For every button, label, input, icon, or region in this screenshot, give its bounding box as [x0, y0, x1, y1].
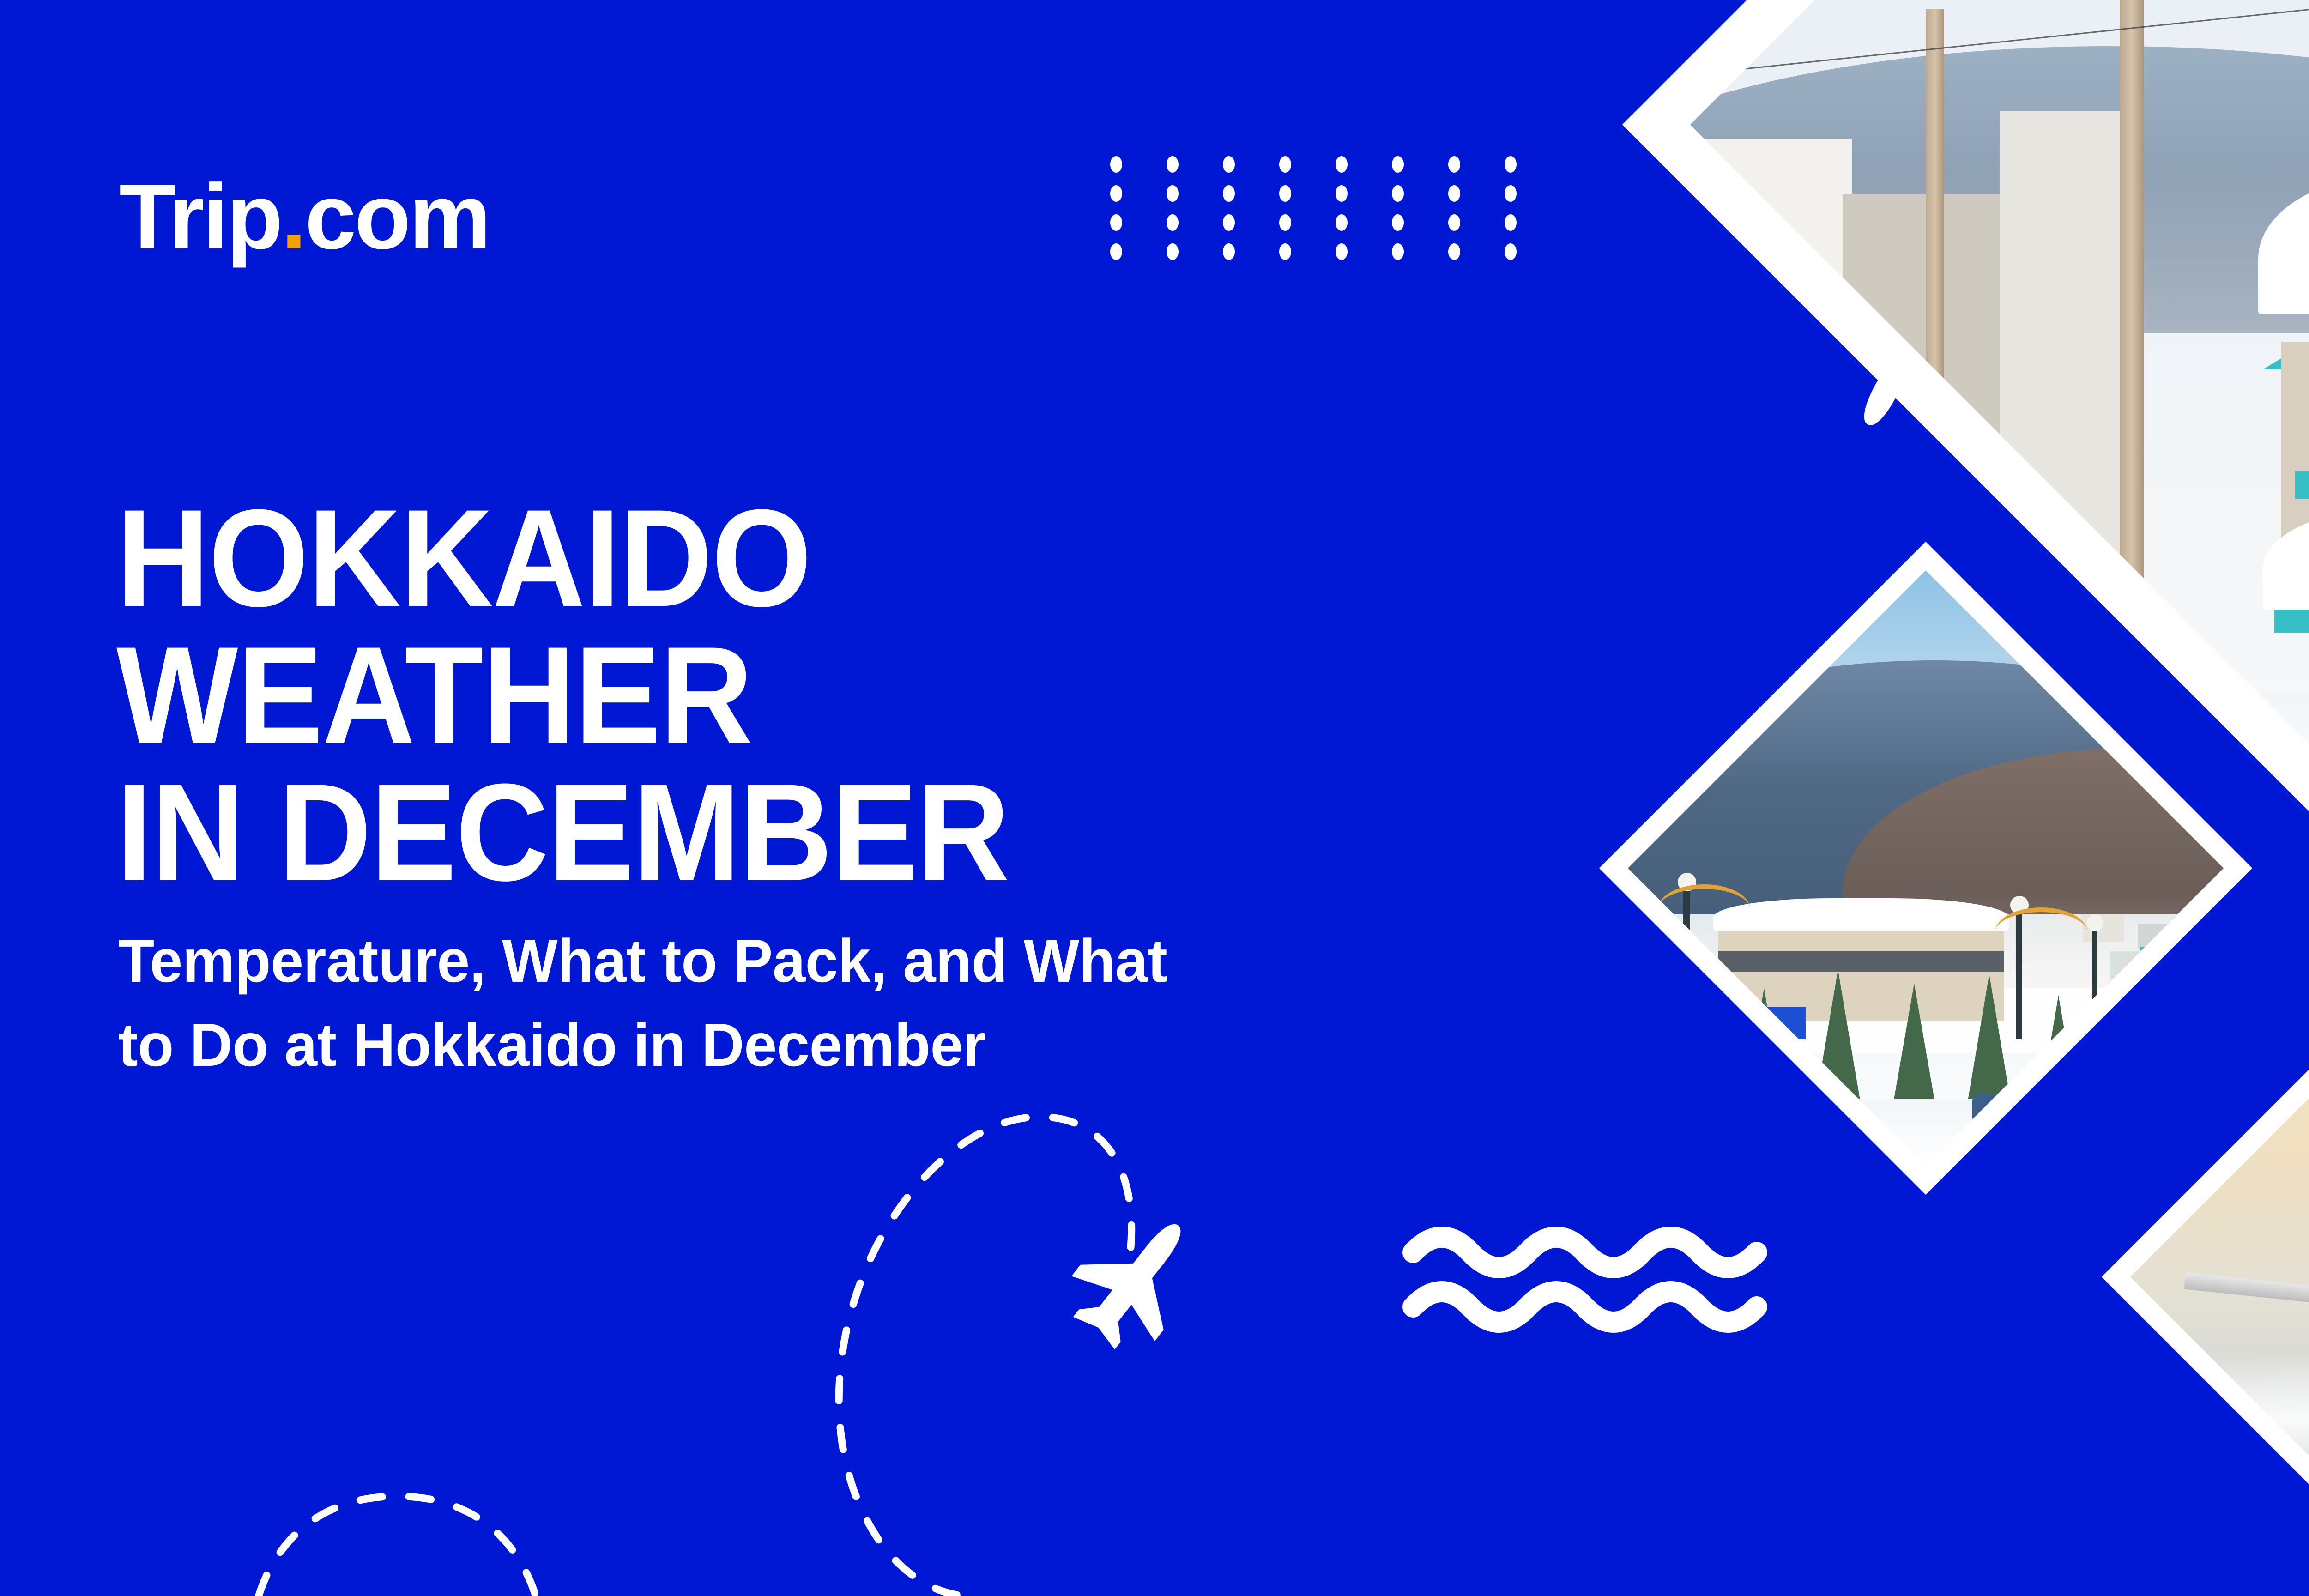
flight-path-bottom-icon	[839, 1117, 1132, 1596]
wave-decoration	[1413, 1237, 1757, 1322]
photo-card-airplane	[2102, 947, 2309, 1596]
airplane-icon-bottom	[1052, 1193, 1220, 1366]
flight-path-edge-arc	[259, 1496, 536, 1596]
airplane-landing-scene	[2130, 976, 2309, 1578]
photo-collage	[1727, 0, 2309, 1596]
promo-banner: Trip.com HOKKAIDO WEATHER IN DECEMBER Te…	[0, 0, 2309, 1596]
